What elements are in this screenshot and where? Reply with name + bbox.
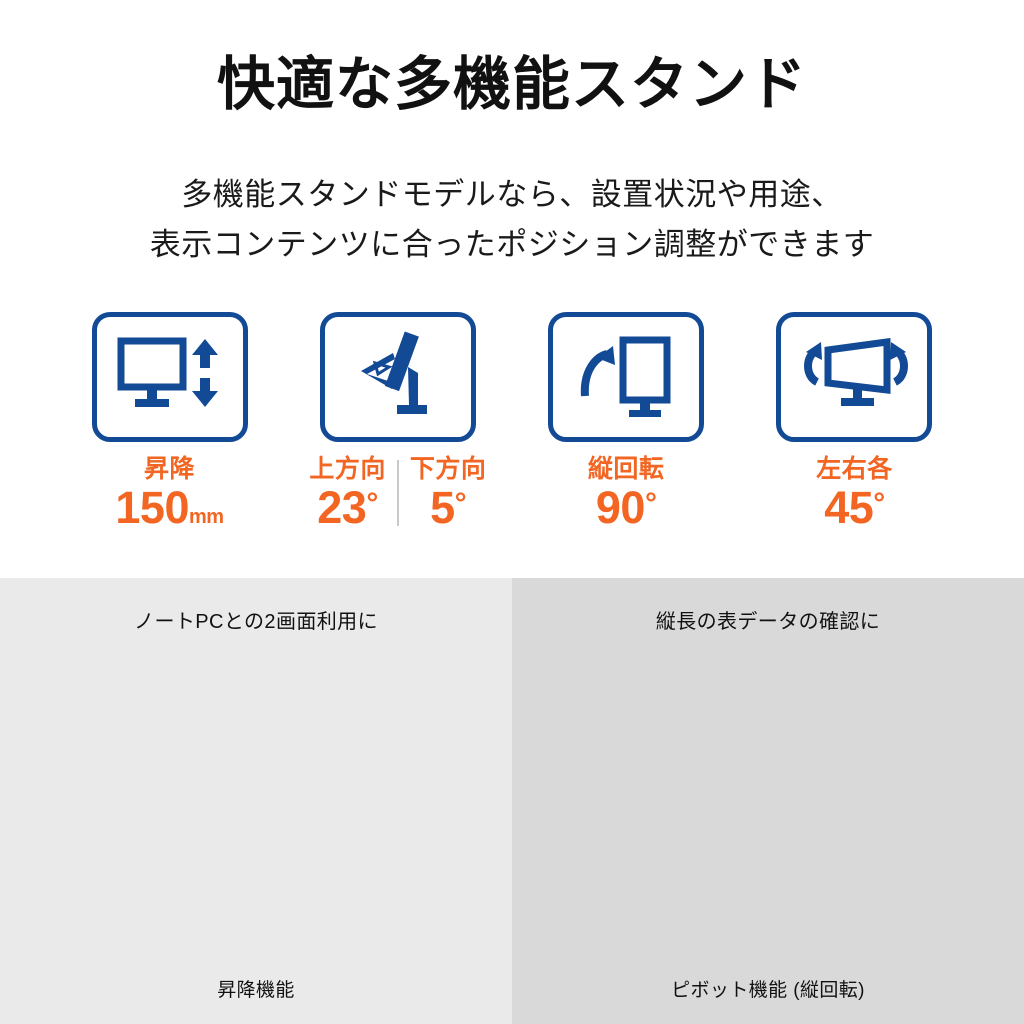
- panel-right-heading: 縦長の表データの確認に: [512, 605, 1024, 634]
- product-feature-page: 快適な多機能スタンド 多機能スタンドモデルなら、設置状況や用途、 表示コンテンツ…: [0, 0, 1024, 1024]
- spec-tilt-down: 下方向 5°: [399, 456, 498, 532]
- monitor-swivel-icon: [795, 336, 913, 418]
- panel-left-footer: 昇降機能: [0, 975, 512, 1002]
- spec-label: 昇降: [62, 456, 277, 484]
- spec-label: 縦回転: [519, 456, 734, 484]
- spec-tilt: 上方向 23° 下方向 5°: [290, 312, 505, 532]
- spec-number-down: 5: [430, 482, 455, 533]
- degree-symbol: °: [455, 487, 467, 520]
- spec-number: 90: [596, 482, 645, 533]
- panel-left-heading: ノートPCとの2画面利用に: [0, 605, 512, 634]
- spec-icon-box: [548, 312, 704, 442]
- subtitle-line-1: 多機能スタンドモデルなら、設置状況や用途、: [0, 170, 1024, 220]
- spec-icon-box: [92, 312, 248, 442]
- spec-value: 150mm: [62, 484, 277, 533]
- hero-section: 快適な多機能スタンド 多機能スタンドモデルなら、設置状況や用途、 表示コンテンツ…: [0, 0, 1024, 578]
- spec-swivel: 左右各 45°: [747, 312, 962, 532]
- spec-tilt-up: 上方向 23°: [298, 456, 397, 532]
- subtitle-line-2: 表示コンテンツに合ったポジション調整ができます: [0, 220, 1024, 270]
- spec-icon-box: [320, 312, 476, 442]
- page-subtitle: 多機能スタンドモデルなら、設置状況や用途、 表示コンテンツに合ったポジション調整…: [0, 170, 1024, 270]
- spec-value: 45°: [747, 484, 962, 533]
- spec-label-down: 下方向: [410, 456, 487, 484]
- spec-number-up: 23: [317, 482, 366, 533]
- spec-icon-row: 昇降 150mm: [62, 312, 962, 562]
- page-title: 快適な多機能スタンド: [0, 52, 1024, 119]
- monitor-height-adjust-icon: [117, 335, 223, 419]
- spec-label: 左右各: [747, 456, 962, 484]
- spec-value: 90°: [519, 484, 734, 533]
- spec-label-up: 上方向: [309, 456, 386, 484]
- spec-number: 150: [115, 482, 189, 533]
- spec-height-adjust: 昇降 150mm: [62, 312, 277, 532]
- degree-symbol: °: [366, 487, 378, 520]
- degree-symbol: °: [873, 487, 885, 520]
- monitor-pivot-icon: [573, 334, 679, 420]
- spec-caption: 左右各 45°: [747, 456, 962, 532]
- usecase-panel-right: 縦長の表データの確認に ピボット機能 (縦回転): [512, 578, 1024, 1024]
- spec-number: 45: [824, 482, 873, 533]
- monitor-tilt-icon: [345, 327, 451, 427]
- spec-pivot: 縦回転 90°: [519, 312, 734, 532]
- usecase-panels: ノートPCとの2画面利用に 昇降機能 縦長の表データの確認に ピボット機能 (縦…: [0, 578, 1024, 1024]
- spec-caption: 縦回転 90°: [519, 456, 734, 532]
- spec-value-down: 5°: [410, 484, 487, 533]
- degree-symbol: °: [645, 487, 657, 520]
- panel-right-footer: ピボット機能 (縦回転): [512, 975, 1024, 1002]
- spec-caption: 昇降 150mm: [62, 456, 277, 532]
- spec-value-up: 23°: [309, 484, 386, 533]
- spec-icon-box: [776, 312, 932, 442]
- spec-unit: mm: [189, 506, 224, 528]
- usecase-panel-left: ノートPCとの2画面利用に 昇降機能: [0, 578, 512, 1024]
- spec-caption: 上方向 23° 下方向 5°: [290, 456, 505, 532]
